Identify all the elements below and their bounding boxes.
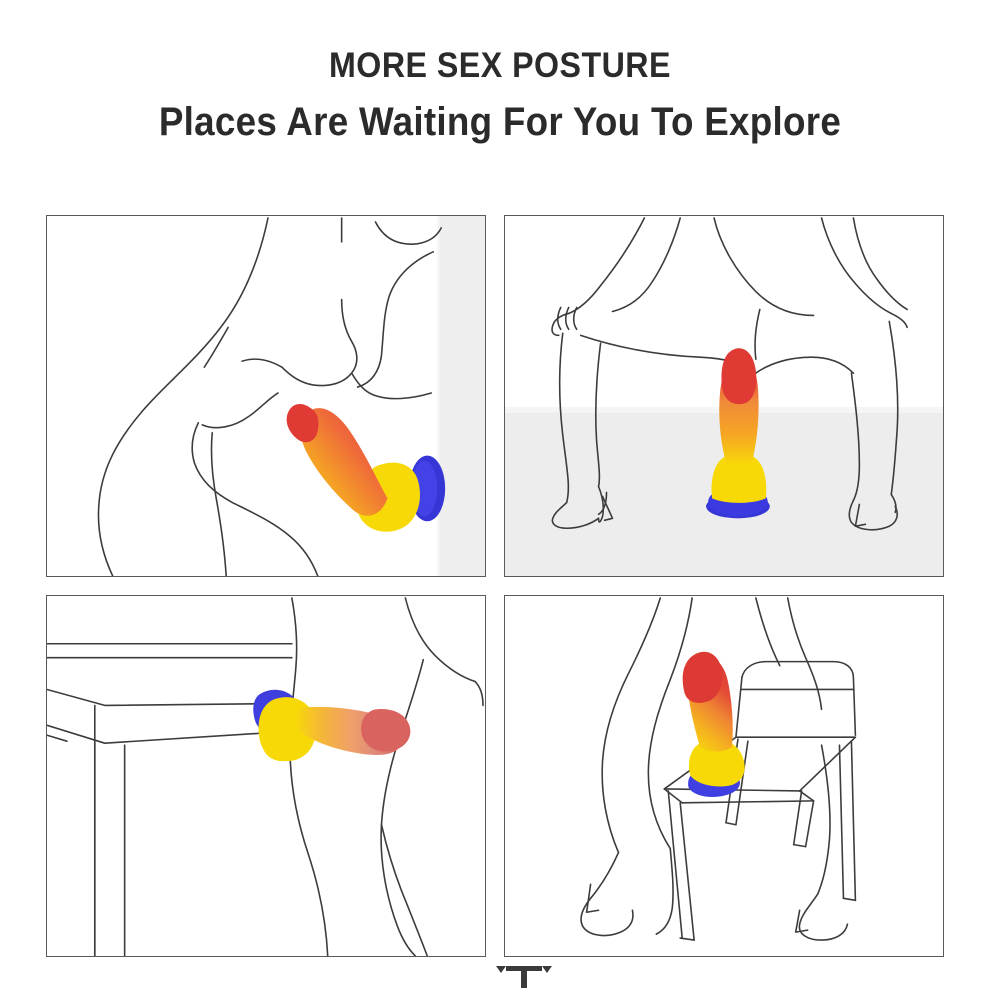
headline-line-1: MORE SEX POSTURE <box>40 44 960 88</box>
headline-line-2: Places Are Waiting For You To Explore <box>40 94 960 150</box>
panel-wall <box>46 215 486 577</box>
product-tip <box>722 348 757 404</box>
figure-line-art <box>290 598 483 956</box>
product-suction-cup-dildo <box>253 690 410 761</box>
wall-edge-line <box>437 216 439 576</box>
panel-table <box>46 595 486 957</box>
wall-surface <box>439 216 485 576</box>
panel-grid <box>46 215 944 957</box>
product-suction-cup-dildo <box>683 652 745 797</box>
panel-chair <box>504 595 944 957</box>
product-tip <box>361 709 410 751</box>
panel-floor <box>504 215 944 577</box>
product-suction-cup-dildo <box>287 404 446 532</box>
watermark-artifact <box>494 962 554 988</box>
table-line-art <box>47 644 292 956</box>
headline: MORE SEX POSTURE Places Are Waiting For … <box>0 44 1000 150</box>
